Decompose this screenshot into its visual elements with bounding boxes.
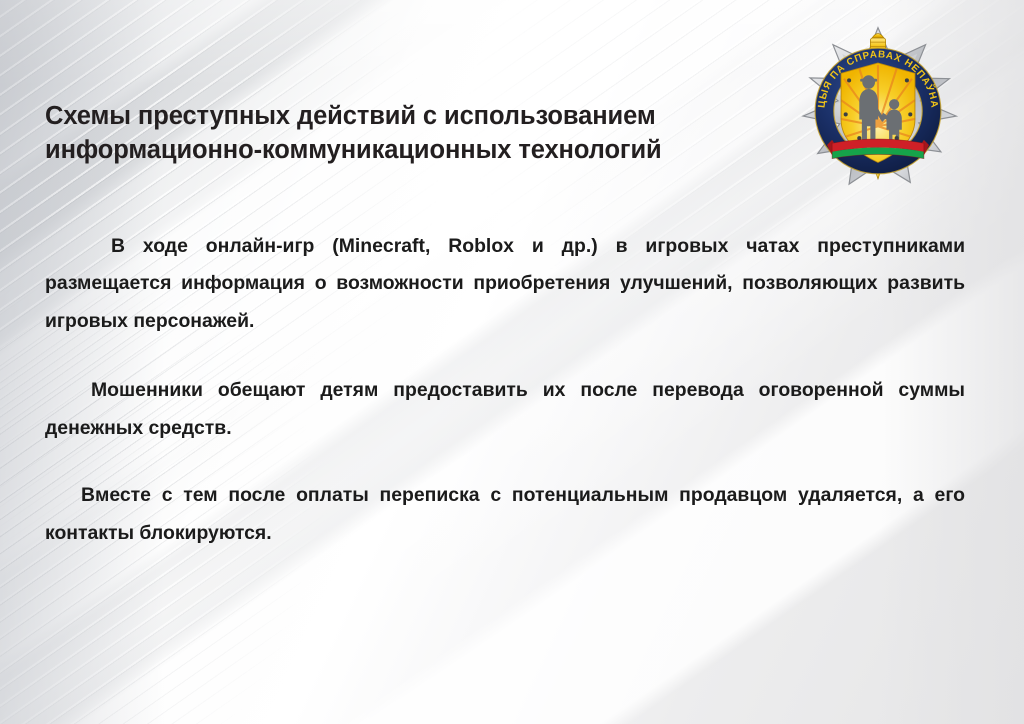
organization-emblem: ІНСПЕКЦЫЯ ПА СПРАВАХ НЕПАЎНАЛЕТНІХ (793, 25, 963, 197)
slide-body: В ходе онлайн-игр (Minecraft, Roblox и д… (45, 228, 965, 552)
emblem-svg: ІНСПЕКЦЫЯ ПА СПРАВАХ НЕПАЎНАЛЕТНІХ (793, 25, 963, 197)
slide-title-line-1: Схемы преступных действий с использовани… (45, 100, 780, 134)
body-paragraph-2: Мошенники обещают детям предоставить их … (45, 372, 965, 447)
body-paragraph-1: В ходе онлайн-игр (Minecraft, Roblox и д… (45, 228, 965, 340)
slide-title-line-2: информационно-коммуникационных технологи… (45, 134, 780, 168)
body-paragraph-3: Вместе с тем после оплаты переписка с по… (45, 477, 965, 552)
slide-title: Схемы преступных действий с использовани… (45, 100, 780, 168)
presentation-slide: Схемы преступных действий с использовани… (0, 0, 1024, 724)
